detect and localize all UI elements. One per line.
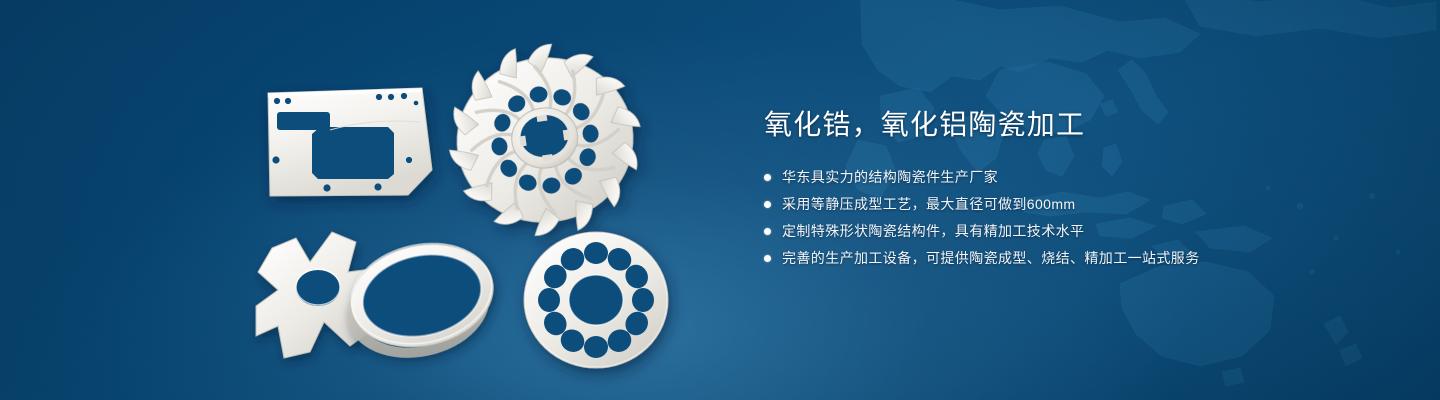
ceramic-impeller	[436, 33, 653, 247]
bullet-dot-icon	[764, 228, 771, 235]
promo-banner: 氧化锆，氧化铝陶瓷加工 华东具实力的结构陶瓷件生产厂家 采用等静压成型工艺，最大…	[0, 0, 1440, 400]
banner-copy: 氧化锆，氧化铝陶瓷加工 华东具实力的结构陶瓷件生产厂家 采用等静压成型工艺，最大…	[764, 108, 1384, 267]
feature-text: 采用等静压成型工艺，最大直径可做到600mm	[782, 195, 1075, 213]
ceramic-plate	[268, 88, 432, 196]
feature-text: 定制特殊形状陶瓷结构件，具有精加工技术水平	[782, 222, 1084, 240]
bullet-dot-icon	[764, 174, 771, 181]
ceramic-ring	[335, 231, 505, 371]
list-item: 采用等静压成型工艺，最大直径可做到600mm	[764, 195, 1384, 213]
feature-list: 华东具实力的结构陶瓷件生产厂家 采用等静压成型工艺，最大直径可做到600mm 定…	[764, 168, 1384, 267]
bullet-dot-icon	[764, 201, 771, 208]
feature-text: 完善的生产加工设备，可提供陶瓷成型、烧结、精加工一站式服务	[782, 249, 1200, 267]
ceramic-perforated-disc	[524, 232, 668, 368]
list-item: 定制特殊形状陶瓷结构件，具有精加工技术水平	[764, 222, 1384, 240]
feature-text: 华东具实力的结构陶瓷件生产厂家	[782, 168, 998, 186]
product-photo-group	[0, 0, 720, 400]
page-title: 氧化锆，氧化铝陶瓷加工	[764, 108, 1384, 142]
bullet-dot-icon	[764, 255, 771, 262]
list-item: 完善的生产加工设备，可提供陶瓷成型、烧结、精加工一站式服务	[764, 249, 1384, 267]
list-item: 华东具实力的结构陶瓷件生产厂家	[764, 168, 1384, 186]
